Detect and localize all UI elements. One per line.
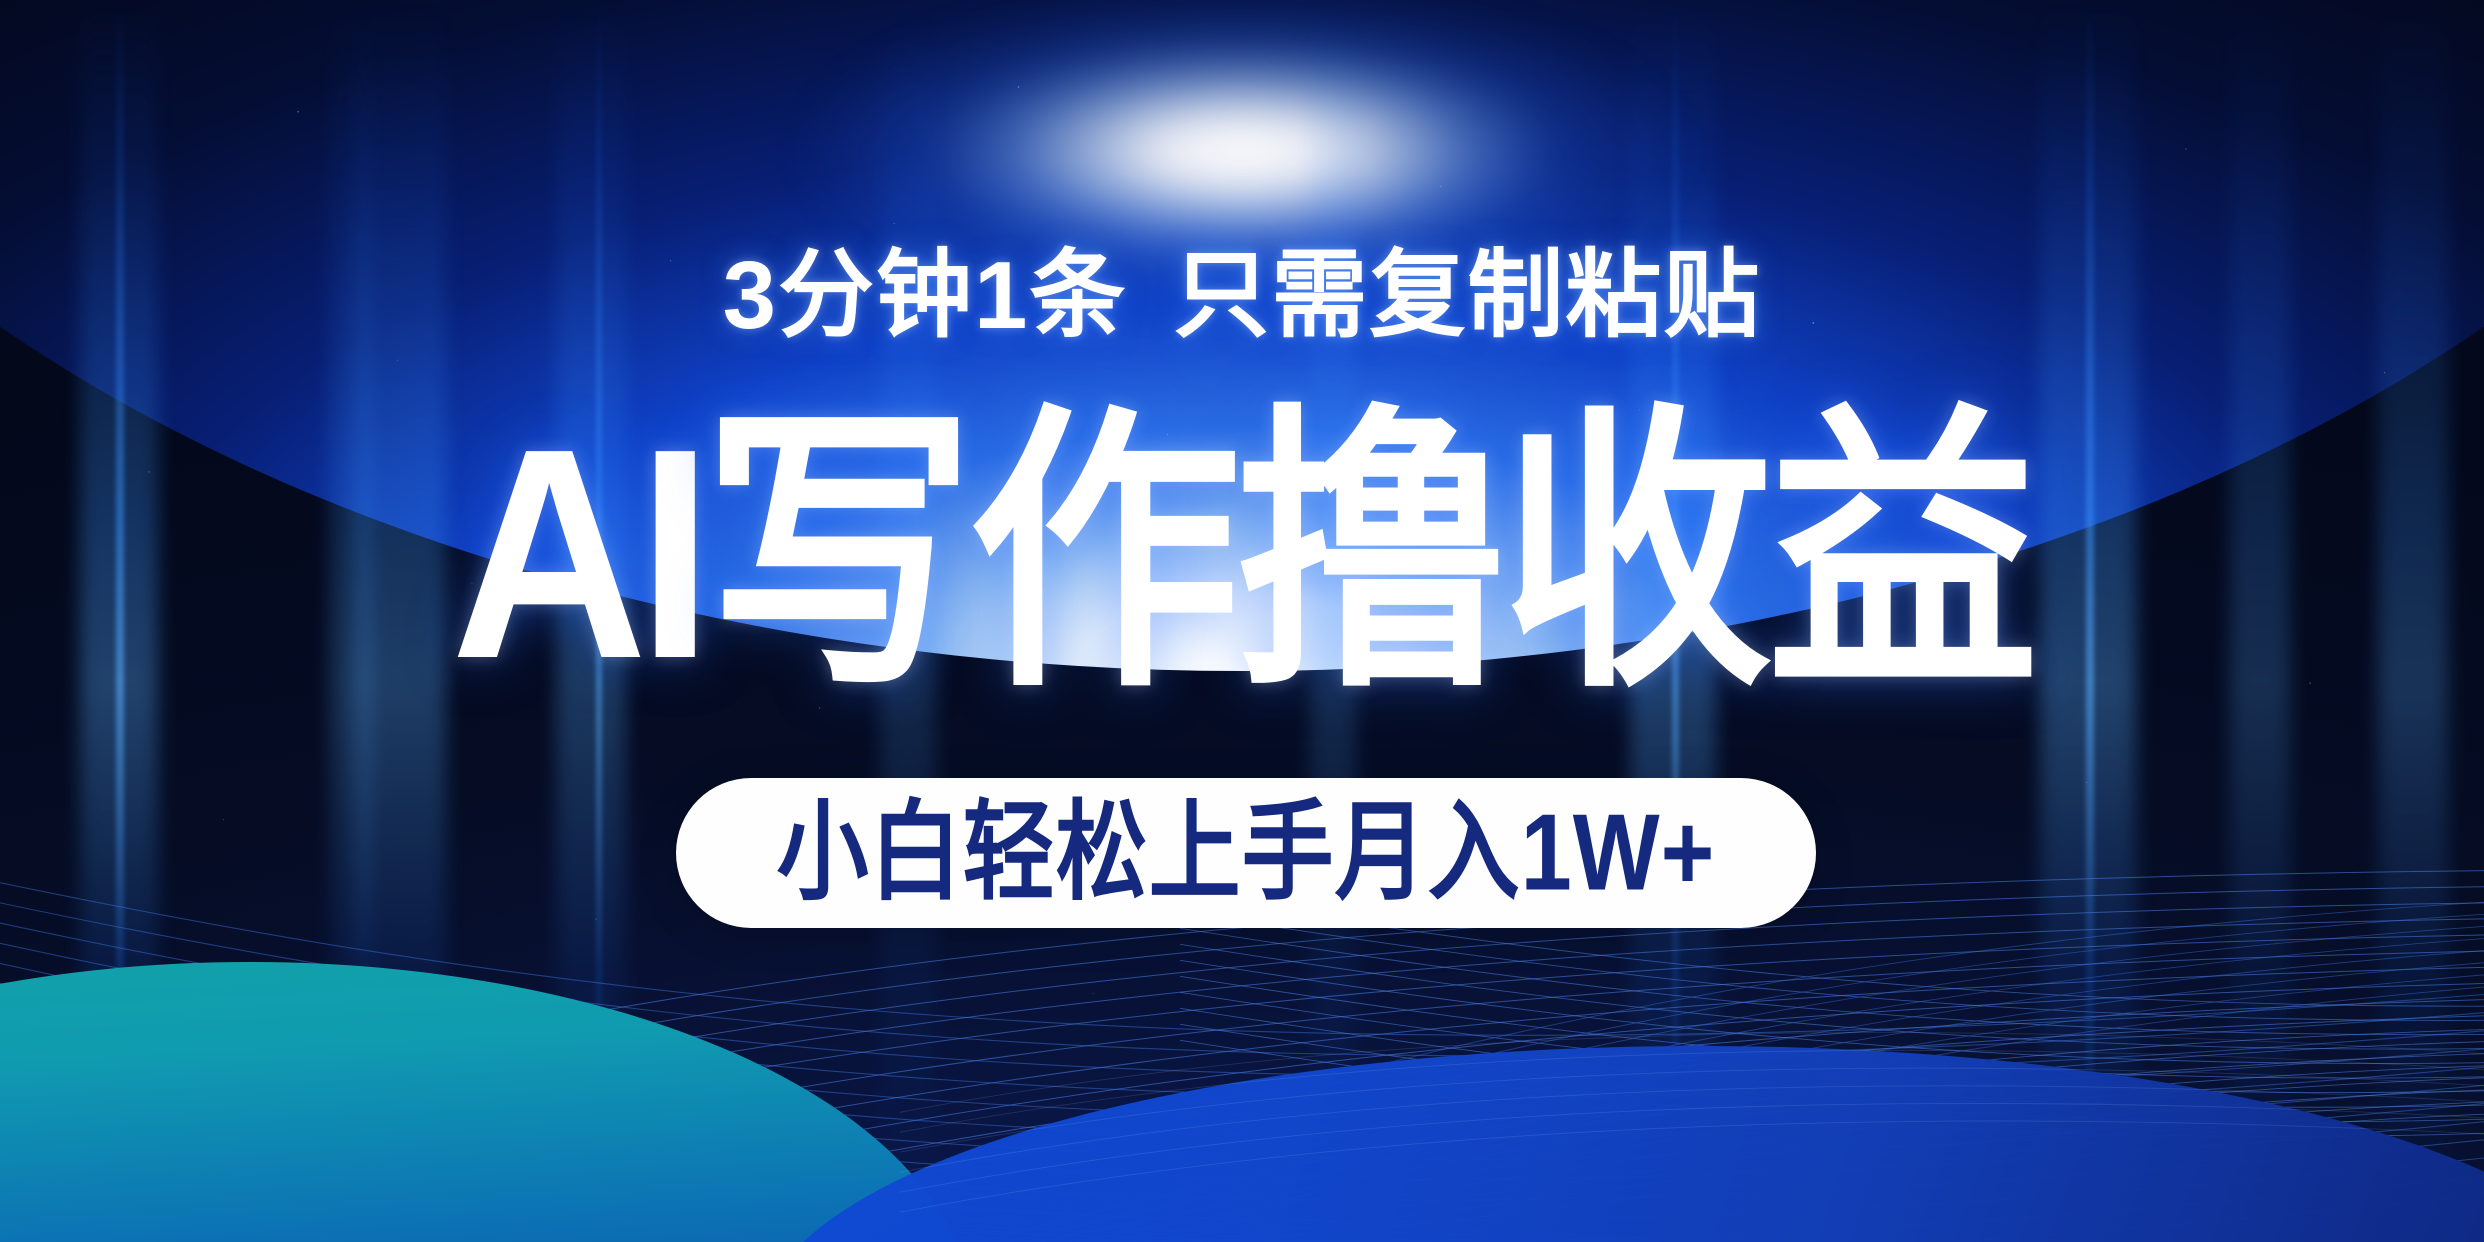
benefit-pill-text: 小白轻松上手月入1W+ xyxy=(777,799,1716,908)
subtitle-part-2: 只需复制粘贴 xyxy=(1173,242,1761,349)
headline-rest: 写作撸收益 xyxy=(703,386,2033,720)
subtitle-part-1: 3分钟1条 xyxy=(723,242,1128,349)
headline-prefix: AI xyxy=(451,386,703,720)
benefit-pill: 小白轻松上手月入1W+ xyxy=(676,778,1816,928)
poster-content: 3分钟1条只需复制粘贴 AI写作撸收益 小白轻松上手月入1W+ xyxy=(0,0,2484,1242)
poster-headline: AI写作撸收益 xyxy=(0,404,2484,703)
promo-poster: 3分钟1条只需复制粘贴 AI写作撸收益 小白轻松上手月入1W+ xyxy=(0,0,2484,1242)
poster-subtitle: 3分钟1条只需复制粘贴 xyxy=(0,248,2484,344)
